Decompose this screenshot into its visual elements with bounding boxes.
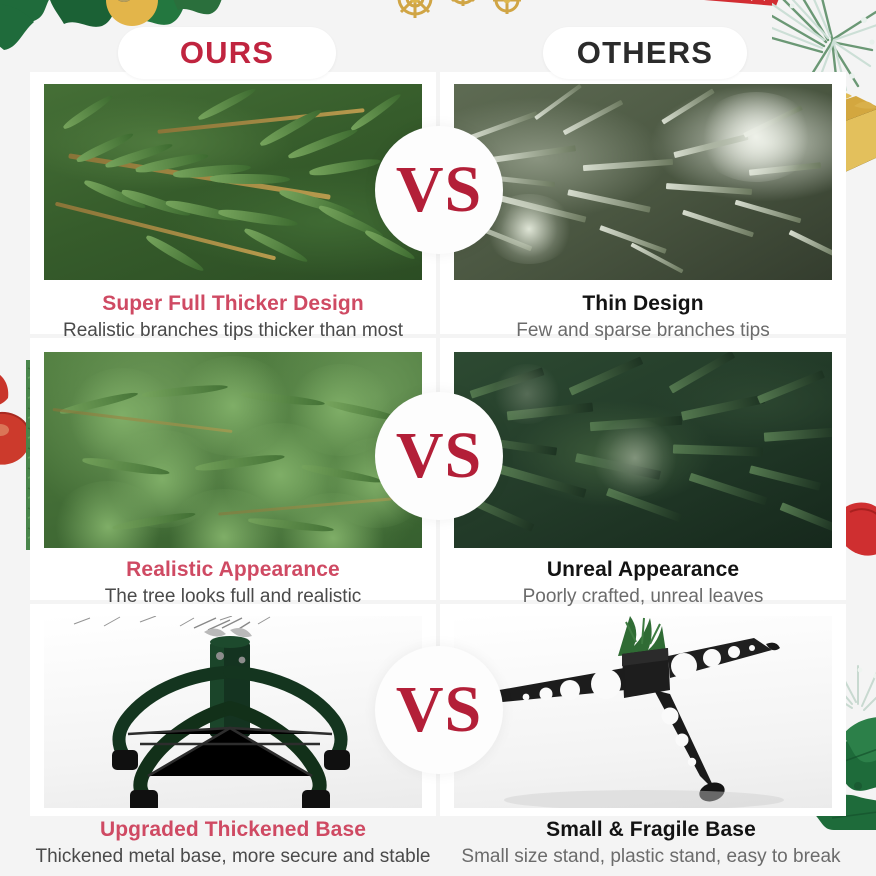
caption-subtitle: The tree looks full and realistic (30, 584, 436, 610)
caption-title: Super Full Thicker Design (30, 290, 436, 318)
vs-label: VS (396, 677, 482, 743)
caption-ours-row-1: Super Full Thicker Design Realistic bran… (30, 290, 436, 344)
header-label-ours: OURS (180, 35, 274, 71)
vs-label: VS (396, 157, 482, 223)
caption-title: Thin Design (440, 290, 846, 318)
vs-badge-row-3: VS (375, 646, 503, 774)
header-pill-ours: OURS (118, 27, 336, 79)
photo-others-row-1 (454, 84, 832, 280)
caption-title: Realistic Appearance (30, 556, 436, 584)
caption-subtitle: Realistic branches tips thicker than mos… (30, 318, 436, 344)
caption-ours-row-2: Realistic Appearance The tree looks full… (30, 556, 436, 610)
caption-subtitle: Few and sparse branches tips (440, 318, 846, 344)
photo-ours-row-1 (44, 84, 422, 280)
caption-ours-row-3: Upgraded Thickened Base Thickened metal … (14, 816, 452, 870)
gold-snowflake-top-center (355, 0, 555, 48)
caption-subtitle: Small size stand, plastic stand, easy to… (432, 844, 870, 870)
caption-subtitle: Poorly crafted, unreal leaves (440, 584, 846, 610)
caption-others-row-3: Small & Fragile Base Small size stand, p… (432, 816, 870, 870)
photo-ours-row-2 (44, 352, 422, 548)
caption-subtitle: Thickened metal base, more secure and st… (14, 844, 452, 870)
caption-others-row-1: Thin Design Few and sparse branches tips (440, 290, 846, 344)
caption-title: Small & Fragile Base (432, 816, 870, 844)
header-pill-others: OTHERS (543, 27, 747, 79)
comparison-infographic: OURS OTHERS (0, 0, 876, 876)
header-label-others: OTHERS (577, 35, 713, 71)
vs-label: VS (396, 423, 482, 489)
photo-others-row-2 (454, 352, 832, 548)
caption-title: Upgraded Thickened Base (14, 816, 452, 844)
vs-badge-row-1: VS (375, 126, 503, 254)
red-ribbon-right (844, 498, 876, 564)
caption-title: Unreal Appearance (440, 556, 846, 584)
photo-others-row-3 (454, 616, 832, 808)
photo-ours-row-3 (44, 616, 422, 808)
vs-badge-row-2: VS (375, 392, 503, 520)
caption-others-row-2: Unreal Appearance Poorly crafted, unreal… (440, 556, 846, 610)
